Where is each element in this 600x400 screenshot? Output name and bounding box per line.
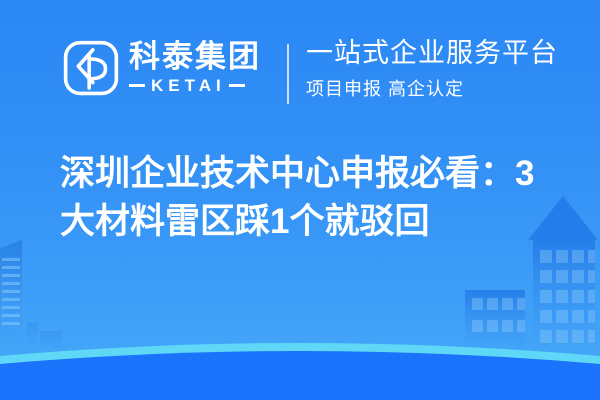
header-divider <box>287 44 289 104</box>
ketai-monogram-logo-icon <box>62 39 120 97</box>
brand-wordmark: 科泰集团 KETAI <box>129 41 261 94</box>
dash-left-icon <box>129 84 145 87</box>
tagline-sub-text: 项目申报 高企认定 <box>306 75 558 101</box>
brand-name-en-row: KETAI <box>129 77 261 94</box>
wave-highlight <box>0 343 600 400</box>
tagline-main-text: 一站式企业服务平台 <box>306 38 558 69</box>
promo-banner: 科泰集团 KETAI 一站式企业服务平台 项目申报 高企认定 深圳企业技术中心申… <box>0 0 600 400</box>
building-left-low <box>27 323 62 357</box>
brand-name-cn: 科泰集团 <box>129 41 261 73</box>
building-left-skyscraper <box>0 240 22 356</box>
brand-name-en: KETAI <box>151 77 226 94</box>
wave-fill <box>0 351 600 400</box>
header-tagline: 一站式企业服务平台 项目申报 高企认定 <box>306 38 558 101</box>
building-right-mid <box>465 290 525 360</box>
brand-logo[interactable]: 科泰集团 KETAI <box>62 39 261 97</box>
banner-header: 科泰集团 KETAI 一站式企业服务平台 项目申报 高企认定 <box>0 0 600 135</box>
page-title: 深圳企业技术中心申报必看：3大材料雷区踩1个就驳回 <box>60 150 560 246</box>
dash-right-icon <box>229 84 245 87</box>
